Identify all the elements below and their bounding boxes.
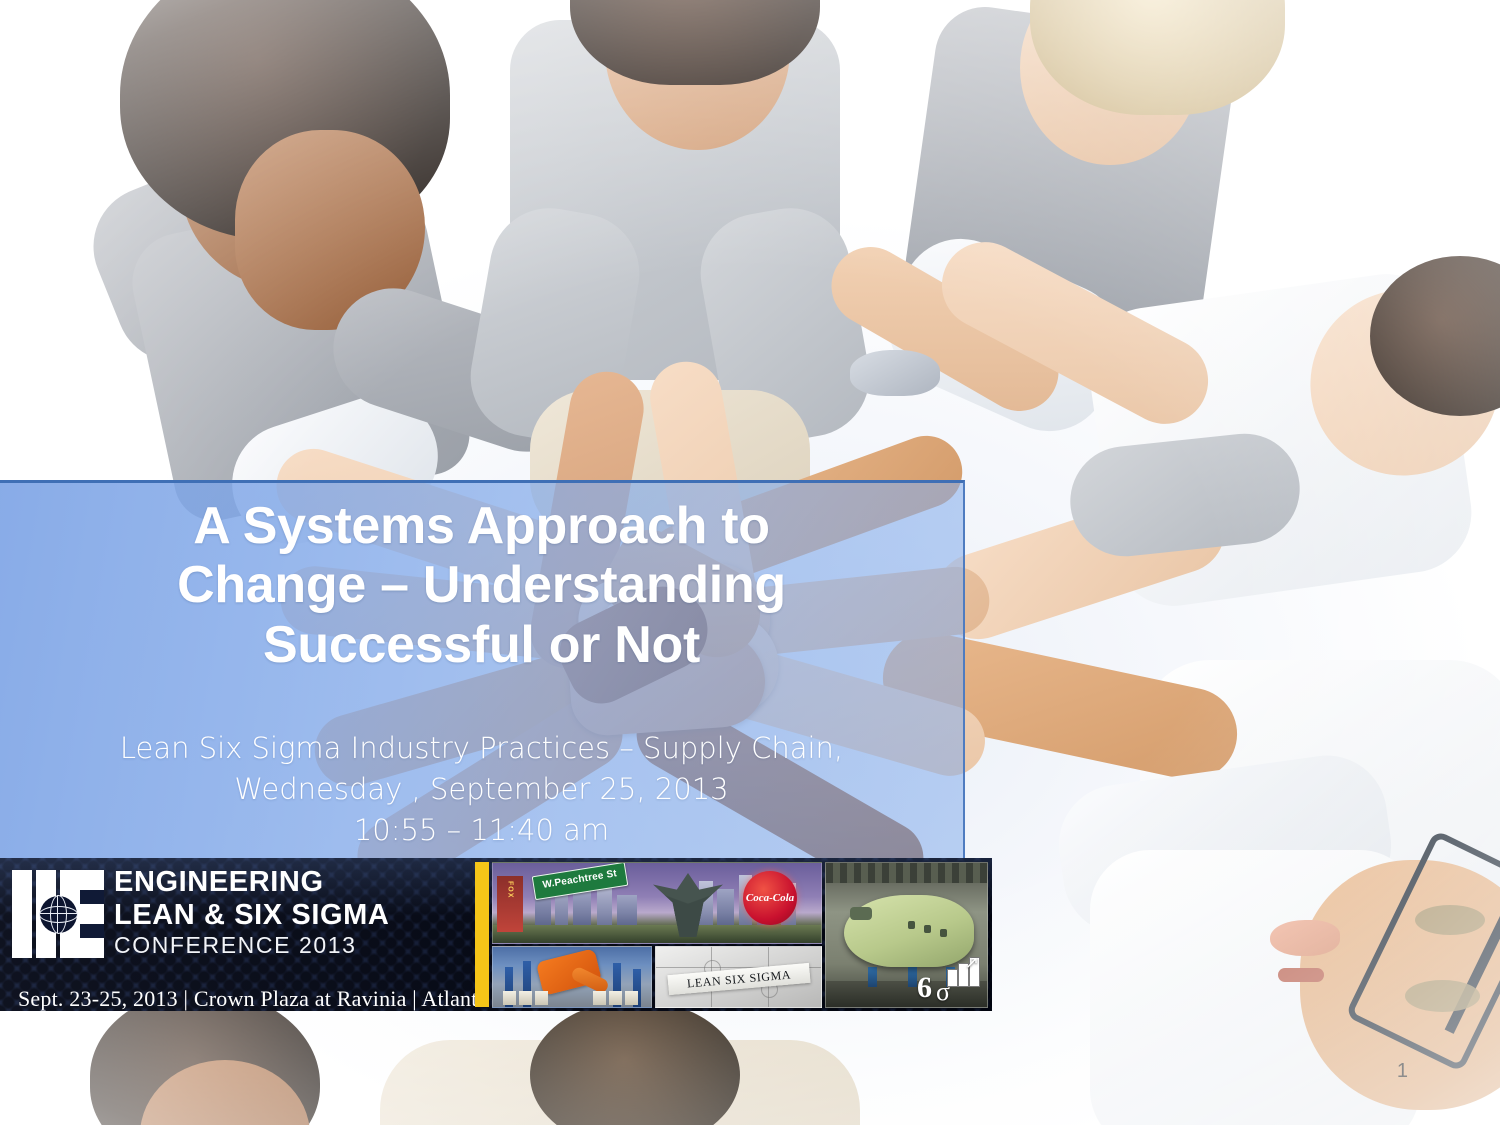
subtitle-line-3: 10:55 – 11:40 am bbox=[70, 810, 893, 851]
subtitle-line-1: Lean Six Sigma Industry Practices – Supp… bbox=[70, 728, 893, 769]
yellow-divider bbox=[475, 862, 489, 1007]
coca-cola-sign: Coca-Cola bbox=[743, 871, 797, 925]
fox-theatre-sign: FOX bbox=[497, 876, 523, 932]
slide-subtitle: Lean Six Sigma Industry Practices – Supp… bbox=[0, 728, 963, 852]
conference-banner: ENGINEERING LEAN & SIX SIGMA CONFERENCE … bbox=[0, 858, 992, 1011]
page-number: 1 bbox=[1397, 1060, 1408, 1083]
slide-title: A Systems Approach to Change – Understan… bbox=[0, 497, 963, 675]
subtitle-line-2: Wednesday , September 25, 2013 bbox=[70, 769, 893, 810]
conference-logo-text: ENGINEERING LEAN & SIX SIGMA CONFERENCE … bbox=[114, 868, 389, 957]
collage-robot-photo bbox=[492, 946, 652, 1008]
title-overlay-panel: A Systems Approach to Change – Understan… bbox=[0, 480, 965, 858]
logo-line-3: CONFERENCE 2013 bbox=[114, 933, 389, 957]
logo-line-2: LEAN & SIX SIGMA bbox=[114, 900, 389, 930]
growth-arrow-icon: ↗ bbox=[965, 954, 979, 971]
collage-atlanta-photo: FOX W.Peachtree St Coca-Cola bbox=[492, 862, 822, 944]
conference-logo: ENGINEERING LEAN & SIX SIGMA CONFERENCE … bbox=[8, 868, 463, 1003]
presentation-slide: A Systems Approach to Change – Understan… bbox=[0, 0, 1500, 1125]
iie-globe-icon bbox=[12, 870, 104, 958]
collage-aircraft-photo: 6 σ ↗ bbox=[825, 862, 988, 1008]
photo-collage: FOX W.Peachtree St Coca-Cola bbox=[492, 862, 988, 1008]
collage-puzzle-photo: LEAN SIX SIGMA bbox=[655, 946, 822, 1008]
conference-details: Sept. 23-25, 2013 | Crown Plaza at Ravin… bbox=[18, 986, 488, 1011]
logo-line-1: ENGINEERING bbox=[114, 868, 389, 898]
six-sigma-badge: 6 σ ↗ bbox=[917, 955, 981, 1003]
title-line-3: Successful or Not bbox=[60, 616, 903, 675]
title-line-1: A Systems Approach to bbox=[60, 497, 903, 556]
title-line-2: Change – Understanding bbox=[60, 556, 903, 615]
